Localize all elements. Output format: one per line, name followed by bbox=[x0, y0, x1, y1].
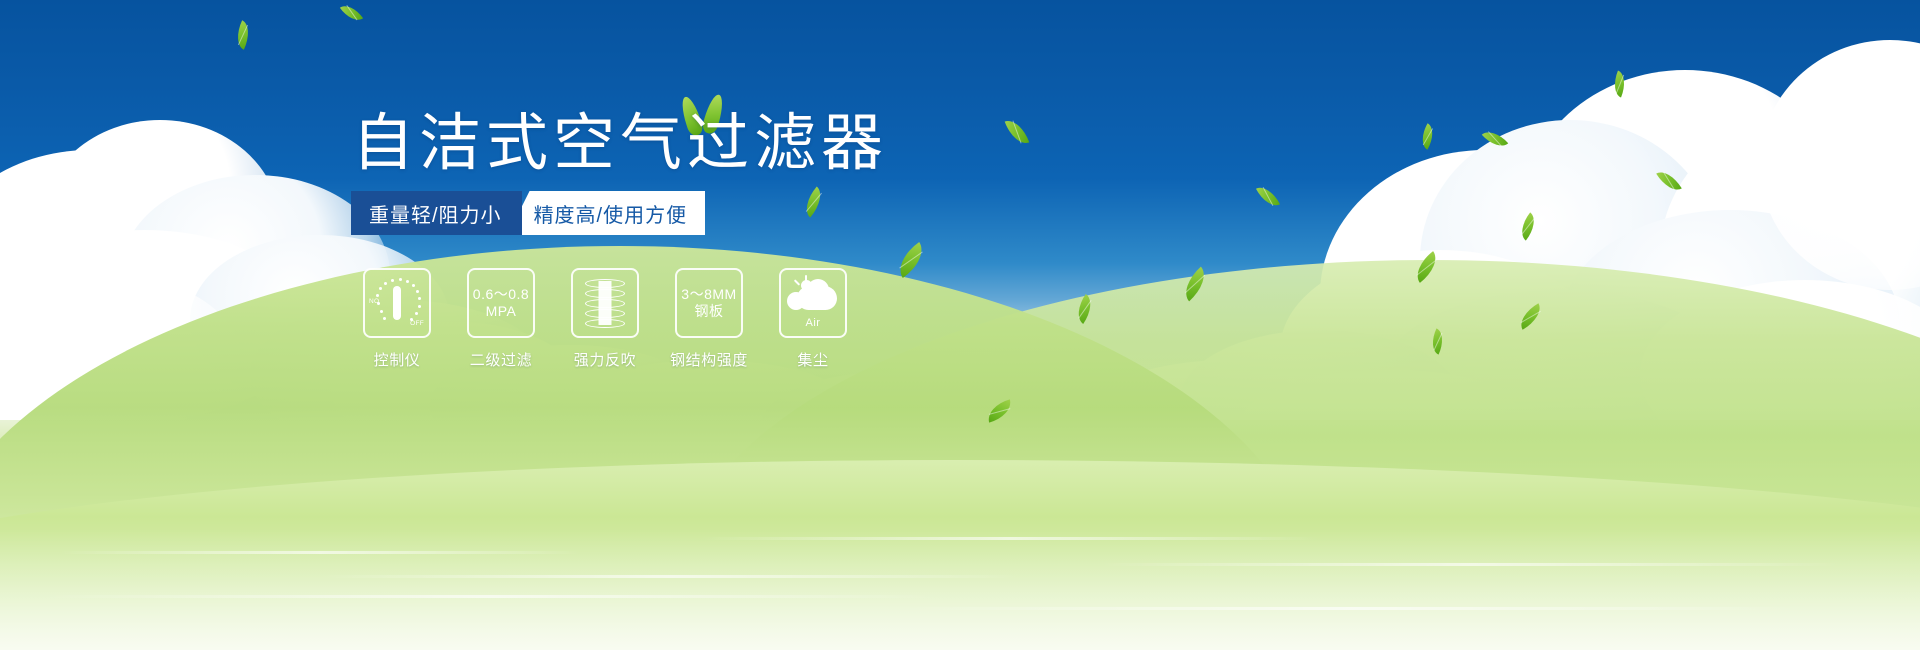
feature-item-pressure[interactable]: 0.6～0.8 MPA 二级过滤 bbox=[460, 268, 542, 370]
tagline-segment-left: 重量轻/阻力小 bbox=[351, 191, 522, 235]
feature-box-steel: 3～8MM 钢板 bbox=[675, 268, 743, 338]
hero-banner: 自洁式空气过滤器 重量轻/阻力小 精度高/使用方便 bbox=[0, 0, 1920, 650]
feature-box-dust: Air bbox=[779, 268, 847, 338]
air-label: Air bbox=[785, 317, 841, 330]
feature-label-pressure: 二级过滤 bbox=[470, 349, 532, 370]
feature-item-control[interactable]: NO OFF 控制仪 bbox=[356, 268, 438, 370]
feature-item-blowback[interactable]: 强力反吹 bbox=[564, 268, 646, 370]
feature-item-dust[interactable]: Air 集尘 bbox=[772, 268, 854, 370]
pressure-text-icon: 0.6～0.8 MPA bbox=[471, 286, 531, 319]
feature-label-control: 控制仪 bbox=[374, 349, 421, 370]
steel-plate-text-icon: 3～8MM 钢板 bbox=[679, 286, 738, 319]
feature-box-blowback bbox=[571, 268, 639, 338]
feature-label-blowback: 强力反吹 bbox=[574, 349, 636, 370]
dial-label-no: NO bbox=[369, 298, 379, 306]
control-dial-icon: NO OFF bbox=[370, 277, 424, 329]
steel-material: 钢板 bbox=[681, 303, 736, 320]
feature-label-dust: 集尘 bbox=[797, 349, 828, 370]
tagline-bar: 重量轻/阻力小 精度高/使用方便 bbox=[351, 191, 705, 235]
air-cloud-icon: Air bbox=[785, 278, 841, 328]
dial-label-off: OFF bbox=[410, 320, 424, 328]
feature-label-steel: 钢结构强度 bbox=[670, 349, 748, 370]
feature-box-control: NO OFF bbox=[363, 268, 431, 338]
filter-cartridge-icon bbox=[582, 277, 628, 329]
feature-box-pressure: 0.6～0.8 MPA bbox=[467, 268, 535, 338]
grass-sheen bbox=[0, 530, 1920, 650]
pressure-unit: MPA bbox=[473, 303, 529, 320]
steel-thickness: 3～8MM bbox=[681, 286, 736, 303]
feature-list: NO OFF 控制仪 0.6～0.8 MPA 二级过滤 bbox=[356, 268, 854, 370]
page-title: 自洁式空气过滤器 bbox=[352, 113, 888, 175]
tagline-segment-right: 精度高/使用方便 bbox=[508, 191, 706, 235]
feature-item-steel[interactable]: 3～8MM 钢板 钢结构强度 bbox=[668, 268, 750, 370]
grass-field bbox=[0, 420, 1920, 650]
pressure-value: 0.6～0.8 bbox=[473, 286, 529, 303]
